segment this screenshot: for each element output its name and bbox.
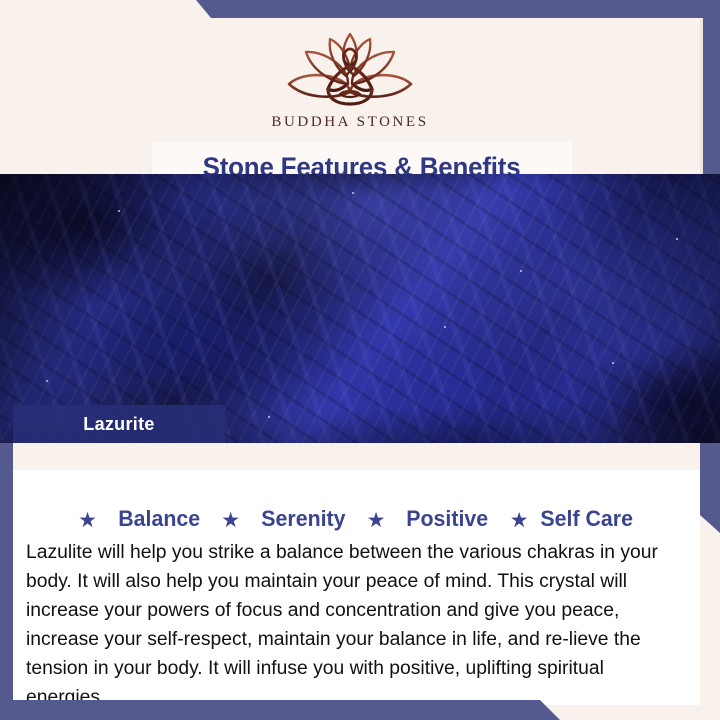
- benefit-item-balance: Balance: [118, 506, 200, 532]
- stone-photo-shading: [0, 174, 720, 443]
- stone-name: Lazurite: [83, 414, 154, 435]
- benefit-item-positive: Positive: [407, 506, 489, 532]
- star-icon: ★: [78, 510, 97, 531]
- lotus-meditation-icon: [270, 26, 430, 112]
- content-panel: ★ Balance ★ Serenity ★ Positive ★ Self C…: [0, 443, 720, 720]
- star-icon: ★: [367, 510, 386, 531]
- benefits-row: ★ Balance ★ Serenity ★ Positive ★ Self C…: [13, 506, 700, 532]
- stone-photo: [0, 174, 720, 443]
- brand-logo: BUDDHA STONES: [0, 26, 700, 131]
- stone-info-card: BUDDHA STONES Stone Features & Benefits …: [0, 0, 720, 720]
- star-icon: ★: [221, 510, 240, 531]
- stone-name-tag: Lazurite: [13, 405, 225, 443]
- top-accent-band: [0, 0, 720, 18]
- content-card: ★ Balance ★ Serenity ★ Positive ★ Self C…: [13, 470, 700, 705]
- star-icon: ★: [510, 510, 529, 531]
- header-right-accent-edge: [700, 40, 720, 180]
- benefit-item-self-care: Self Care: [541, 506, 634, 532]
- stone-description: Lazulite will help you strike a balance …: [26, 538, 678, 712]
- header-panel: BUDDHA STONES Stone Features & Benefits: [0, 18, 703, 174]
- left-accent-rail: [0, 443, 13, 705]
- brand-name: BUDDHA STONES: [0, 114, 700, 131]
- benefit-item-serenity: Serenity: [261, 506, 345, 532]
